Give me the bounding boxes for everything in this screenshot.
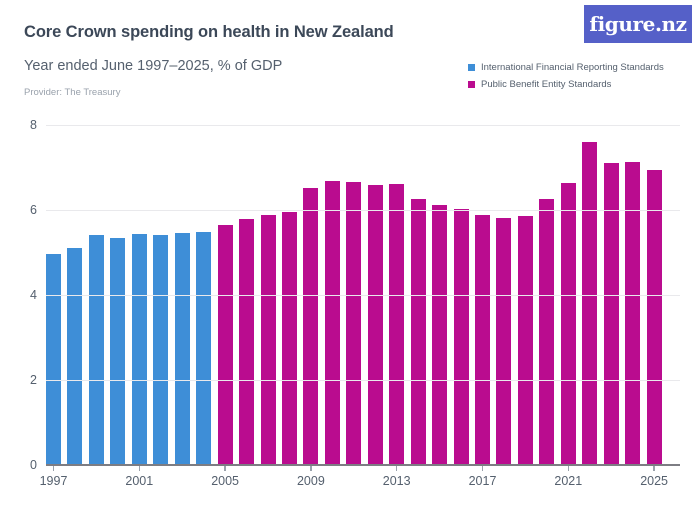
bar-2005[interactable] xyxy=(218,225,233,465)
legend-item[interactable]: International Financial Reporting Standa… xyxy=(468,62,664,73)
bar-1999[interactable] xyxy=(89,235,104,465)
y-axis-tick-label: 6 xyxy=(30,203,37,217)
bar-2016[interactable] xyxy=(454,209,469,465)
x-axis-tick-mark xyxy=(396,465,398,471)
x-axis: 19972001200520092013201720212025 xyxy=(46,465,680,499)
bar-2017[interactable] xyxy=(475,215,490,465)
y-axis-tick-label: 8 xyxy=(30,118,37,132)
legend-swatch-icon xyxy=(468,64,475,71)
x-axis-tick-mark xyxy=(568,465,570,471)
chart-legend: International Financial Reporting Standa… xyxy=(468,62,664,96)
figure-nz-logo[interactable]: figure.nz xyxy=(584,5,692,43)
bar-2003[interactable] xyxy=(175,233,190,465)
bar-2000[interactable] xyxy=(110,238,125,465)
bar-2023[interactable] xyxy=(604,163,619,465)
gridline xyxy=(46,295,680,296)
x-axis-tick-label: 2021 xyxy=(554,474,582,488)
x-axis-tick-label: 2005 xyxy=(211,474,239,488)
x-axis-baseline xyxy=(46,464,680,466)
legend-item[interactable]: Public Benefit Entity Standards xyxy=(468,79,664,90)
bar-2015[interactable] xyxy=(432,205,447,465)
x-axis-tick-label: 1997 xyxy=(40,474,68,488)
x-axis-tick-mark xyxy=(53,465,55,471)
legend-swatch-icon xyxy=(468,81,475,88)
y-axis-tick-label: 2 xyxy=(30,373,37,387)
legend-item-label: Public Benefit Entity Standards xyxy=(481,79,611,90)
x-axis-tick-mark xyxy=(224,465,226,471)
x-axis-tick-label: 2013 xyxy=(383,474,411,488)
bar-2012[interactable] xyxy=(368,185,383,465)
bar-2024[interactable] xyxy=(625,162,640,465)
bar-2022[interactable] xyxy=(582,142,597,465)
x-axis-tick-mark xyxy=(310,465,312,471)
page-title: Core Crown spending on health in New Zea… xyxy=(24,23,394,42)
chart-subtitle: Year ended June 1997–2025, % of GDP xyxy=(24,58,282,74)
bar-2025[interactable] xyxy=(647,170,662,465)
x-axis-tick-mark xyxy=(653,465,655,471)
bar-2014[interactable] xyxy=(411,199,426,465)
x-axis-tick-label: 2001 xyxy=(125,474,153,488)
bar-1998[interactable] xyxy=(67,248,82,465)
gridline xyxy=(46,210,680,211)
provider-label: Provider: The Treasury xyxy=(24,87,120,98)
x-axis-tick-mark xyxy=(139,465,141,471)
bar-2001[interactable] xyxy=(132,234,147,465)
bar-2018[interactable] xyxy=(496,218,511,465)
bar-2009[interactable] xyxy=(303,188,318,465)
bar-2021[interactable] xyxy=(561,183,576,465)
x-axis-tick-mark xyxy=(482,465,484,471)
bar-2020[interactable] xyxy=(539,199,554,465)
bar-2013[interactable] xyxy=(389,184,404,465)
chart-page: Core Crown spending on health in New Zea… xyxy=(0,0,700,525)
bar-2019[interactable] xyxy=(518,216,533,465)
gridline xyxy=(46,380,680,381)
y-axis-tick-label: 4 xyxy=(30,288,37,302)
bar-2002[interactable] xyxy=(153,235,168,465)
x-axis-tick-label: 2009 xyxy=(297,474,325,488)
bar-2011[interactable] xyxy=(346,182,361,465)
bar-2010[interactable] xyxy=(325,181,340,465)
gridline xyxy=(46,125,680,126)
legend-item-label: International Financial Reporting Standa… xyxy=(481,62,664,73)
x-axis-tick-label: 2017 xyxy=(469,474,497,488)
bar-1997[interactable] xyxy=(46,254,61,465)
y-axis-tick-label: 0 xyxy=(30,458,37,472)
logo-text: figure.nz xyxy=(589,14,686,34)
bar-2004[interactable] xyxy=(196,232,211,465)
bar-2008[interactable] xyxy=(282,212,297,465)
bar-2007[interactable] xyxy=(261,215,276,465)
x-axis-tick-label: 2025 xyxy=(640,474,668,488)
bar-2006[interactable] xyxy=(239,219,254,465)
plot-area: 19972001200520092013201720212025 02468 xyxy=(46,125,680,465)
